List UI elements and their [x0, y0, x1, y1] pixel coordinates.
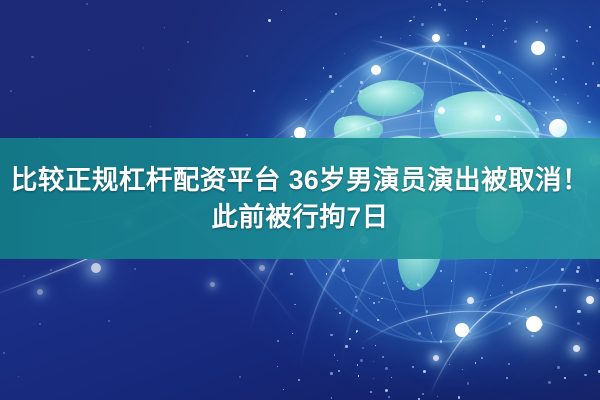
teal-caption-band: 比较正规杠杆配资平台 36岁男演员演出被取消！ 此前被行拘7日: [0, 138, 600, 259]
headline-line-1: 比较正规杠杆配资平台 36岁男演员演出被取消！: [11, 163, 589, 198]
headline-block: 比较正规杠杆配资平台 36岁男演员演出被取消！ 此前被行拘7日: [0, 138, 600, 259]
headline-line-2: 此前被行拘7日: [211, 200, 388, 235]
banner-image: 比较正规杠杆配资平台 36岁男演员演出被取消！ 此前被行拘7日: [0, 0, 600, 400]
